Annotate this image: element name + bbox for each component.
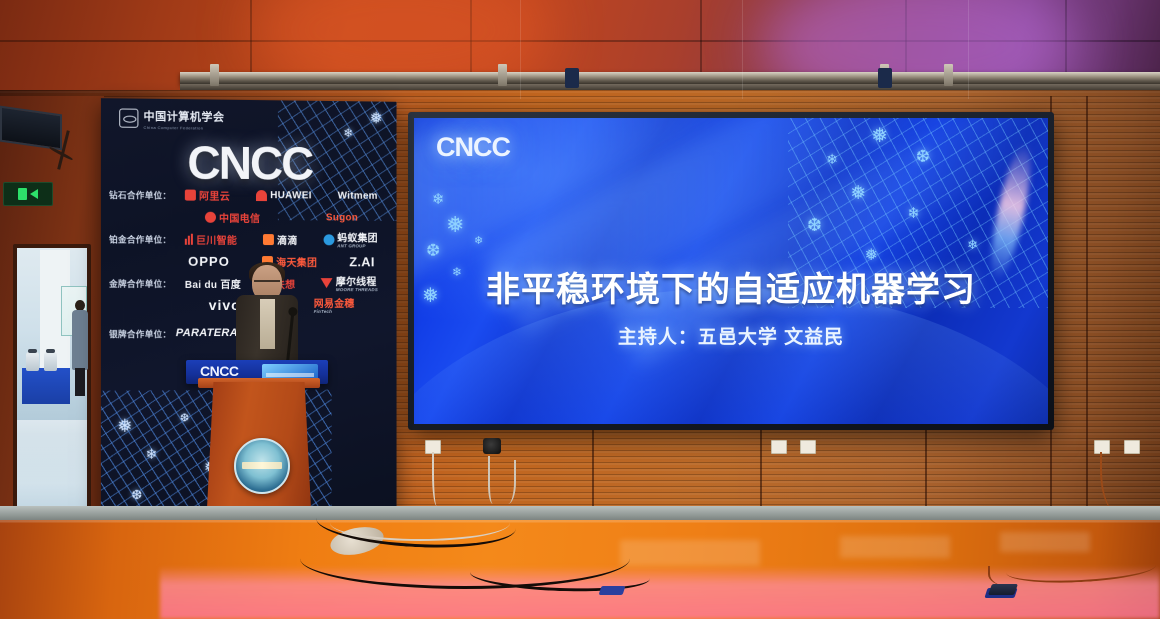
moore-threads-icon <box>321 278 333 288</box>
exit-arrow-icon <box>30 189 38 199</box>
exit-person-glyph <box>18 188 27 200</box>
floor-reflection <box>620 540 760 566</box>
ant-group-icon <box>323 234 334 245</box>
wall-outlet <box>1124 440 1140 454</box>
water-urn <box>26 352 39 371</box>
sponsor-logo: Witmem <box>338 190 378 201</box>
sponsor-logo: 网易金穗 FinTech <box>314 295 355 315</box>
wall-cable <box>488 456 500 504</box>
person-in-corridor <box>72 300 88 396</box>
sponsor-logo: 摩尔线程 MOORE THREADS <box>321 273 378 293</box>
refreshment-table <box>22 368 70 404</box>
floor-reflection <box>1000 532 1090 552</box>
didi-mark-icon <box>263 234 274 245</box>
floor-device <box>988 584 1018 595</box>
sponsor-logo: 中国电信 <box>205 209 260 224</box>
sponsor-tier: 钻石合作单位： 阿里云 HUAWEI Witmem <box>101 183 397 229</box>
slide-title: 非平稳环境下的自适应机器学习 <box>414 262 1048 311</box>
ccf-mark-icon <box>119 108 138 127</box>
huawei-fan-icon <box>256 190 267 201</box>
ccf-org-logo: 中国计算机学会 China Computer Federation <box>119 106 224 130</box>
sponsor-logo: 巨川智能 <box>185 231 237 246</box>
aliyun-mark-icon <box>185 189 196 200</box>
floor-cable-white <box>330 505 510 541</box>
stage-marker-tape <box>599 586 626 595</box>
juchuan-bars-icon <box>185 233 193 244</box>
sponsor-logo: 阿里云 <box>185 187 230 202</box>
sponsor-logo: HUAWEI <box>256 190 312 201</box>
wall-speaker <box>483 438 501 454</box>
sponsor-logo: PARATERA <box>176 327 238 339</box>
exit-sign <box>3 182 53 206</box>
university-emblem <box>234 438 290 494</box>
tier-label: 金牌合作单位： <box>109 272 172 290</box>
cncc-logo-on-screen: CNCC <box>436 132 510 163</box>
china-telecom-icon <box>205 211 216 222</box>
wall-outlet <box>800 440 816 454</box>
ccf-name-en: China Computer Federation <box>143 125 224 131</box>
speaker-glasses <box>254 280 280 288</box>
sponsor-logo-row: 阿里云 HUAWEI Witmem <box>172 183 391 206</box>
sponsor-logo: Sugon <box>326 212 358 223</box>
sponsor-logo: Z.AI <box>349 254 374 269</box>
ccf-name-cn: 中国计算机学会 <box>143 111 224 124</box>
ceiling-truss <box>180 72 1160 84</box>
tier-label: 钻石合作单位： <box>109 183 172 202</box>
tier-label: 铂金合作单位： <box>109 227 172 245</box>
wall-outlet <box>771 440 787 454</box>
sponsor-logo: 蚂蚁集团 ANT GROUP <box>323 229 377 249</box>
sponsor-logo: OPPO <box>188 253 230 268</box>
wall-cable <box>500 460 516 504</box>
speaker-shirt <box>260 299 275 349</box>
led-screen: ❄ ❅ ❆ ❄ ❅ ❄ ❅ ❄ ❆ ❅ ❄ ❆ ❄ ❅ CNCC 非平稳环境下的… <box>414 118 1048 424</box>
sponsor-logo-row: 中国电信 Sugon <box>172 206 391 229</box>
sponsor-logo: Bai du 百度 <box>185 275 241 290</box>
wall-cable <box>432 452 440 506</box>
sponsor-logo-row: 巨川智能 滴滴 蚂蚁集团 ANT GROUP <box>172 228 391 251</box>
sponsor-logo: 滴滴 <box>263 232 297 247</box>
tier-label: 银牌合作单位： <box>109 322 172 340</box>
truss-mount-box <box>565 68 579 88</box>
truss-mount-box <box>878 68 892 88</box>
water-urn <box>44 352 57 371</box>
floor-reflection <box>840 536 950 558</box>
slide-subtitle: 主持人：五邑大学 文益民 <box>414 322 1048 349</box>
conference-hall-scene: ❄ ❅ ❆ ❄ ❅ ❄ ❅ ❄ ❆ ❅ ❄ ❆ ❄ ❅ CNCC 非平稳环境下的… <box>0 0 1160 619</box>
cncc-logo-on-podium: CNCC <box>200 363 238 379</box>
